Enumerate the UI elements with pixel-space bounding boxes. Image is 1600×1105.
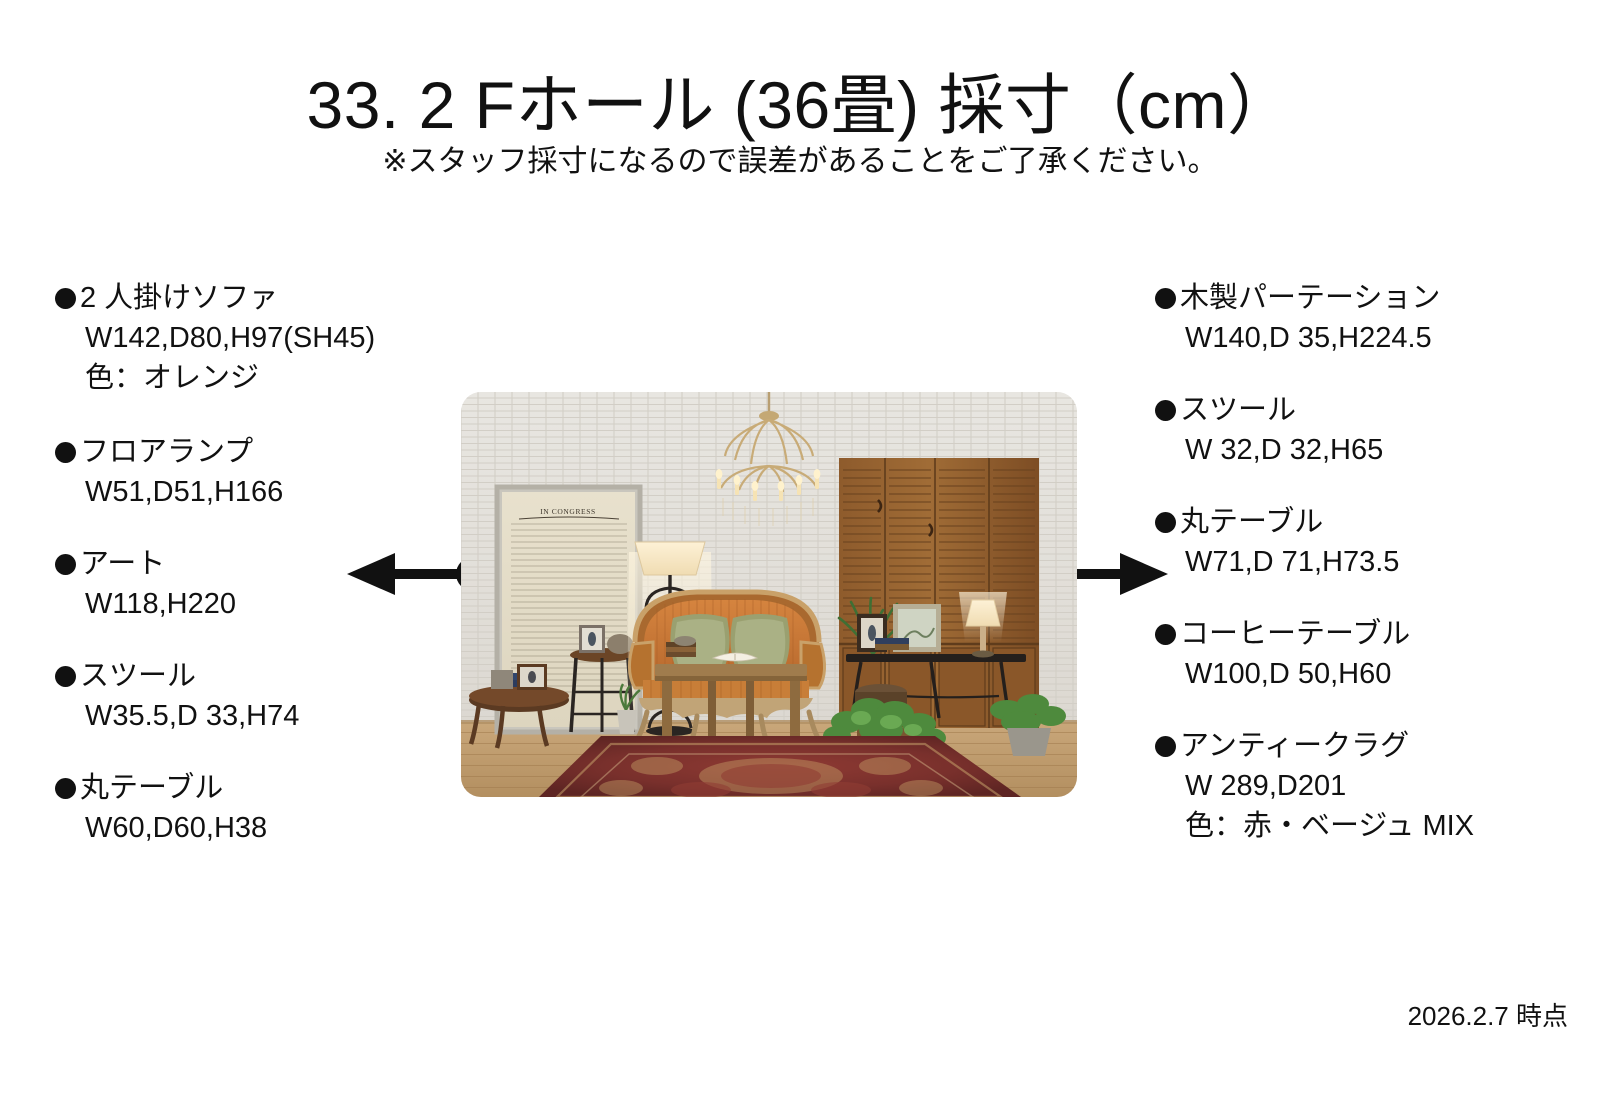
spec-item-stool: スツール W 32,D 32,H65 — [1155, 390, 1585, 470]
spec-name-row: スツール — [55, 656, 475, 696]
spec-label: スツール — [1180, 390, 1296, 430]
spec-label: アンティークラグ — [1180, 726, 1409, 766]
spec-dimension: W142,D80,H97(SH45) — [85, 318, 475, 358]
spec-dimension: W100,D 50,H60 — [1185, 654, 1585, 694]
spec-name-row: フロアランプ — [55, 432, 475, 472]
spec-name-row: 丸テーブル — [1155, 502, 1585, 542]
spec-dimension: W140,D 35,H224.5 — [1185, 318, 1585, 358]
spec-name-row: 木製パーテーション — [1155, 278, 1585, 318]
spec-name-row: コーヒーテーブル — [1155, 614, 1585, 654]
bullet-icon — [1155, 400, 1176, 421]
spec-label: 2 人掛けソファ — [80, 278, 278, 318]
bullet-icon — [55, 288, 76, 309]
spec-item-sofa: 2 人掛けソファ W142,D80,H97(SH45) 色：オレンジ — [55, 278, 475, 398]
spec-label: スツール — [80, 656, 196, 696]
spec-name-row: 2 人掛けソファ — [55, 278, 475, 318]
svg-text:IN CONGRESS: IN CONGRESS — [540, 507, 596, 516]
bullet-icon — [55, 442, 76, 463]
spec-item-floor-lamp: フロアランプ W51,D51,H166 — [55, 432, 475, 512]
spec-dimension: W35.5,D 33,H74 — [85, 696, 475, 736]
bullet-icon — [1155, 624, 1176, 645]
spec-label: アート — [80, 544, 165, 584]
spec-item-coffee-table: コーヒーテーブル W100,D 50,H60 — [1155, 614, 1585, 694]
bullet-icon — [55, 778, 76, 799]
spec-label: コーヒーテーブル — [1180, 614, 1410, 654]
spec-label: 丸テーブル — [80, 768, 223, 808]
spec-color: 色：赤・ベージュ MIX — [1185, 806, 1585, 846]
spec-item-antique-rug: アンティークラグ W 289,D201 色：赤・ベージュ MIX — [1155, 726, 1585, 846]
spec-dimension: W51,D51,H166 — [85, 472, 475, 512]
spec-dimension: W 32,D 32,H65 — [1185, 430, 1585, 470]
bullet-icon — [1155, 288, 1176, 309]
bullet-icon — [55, 554, 76, 575]
spec-item-wooden-partition: 木製パーテーション W140,D 35,H224.5 — [1155, 278, 1585, 358]
spec-color: 色：オレンジ — [85, 358, 475, 398]
room-photo-illustration: IN CONGRESS — [461, 392, 1077, 797]
spec-label: 木製パーテーション — [1180, 278, 1440, 318]
right-spec-column: 木製パーテーション W140,D 35,H224.5 スツール W 32,D 3… — [1155, 278, 1585, 846]
bullet-icon — [1155, 736, 1176, 757]
spec-dimension: W 289,D201 — [1185, 766, 1585, 806]
measurement-date: 2026.2.7 時点 — [1408, 996, 1568, 1033]
spec-name-row: アンティークラグ — [1155, 726, 1585, 766]
bullet-icon — [1155, 512, 1176, 533]
spec-label: フロアランプ — [80, 432, 253, 472]
spec-item-round-table: 丸テーブル W71,D 71,H73.5 — [1155, 502, 1585, 582]
spec-name-row: スツール — [1155, 390, 1585, 430]
room-photo: IN CONGRESS — [461, 392, 1077, 797]
spec-dimension: W71,D 71,H73.5 — [1185, 542, 1585, 582]
poster-root: 33. 2 Fホール (36畳) 採寸（cm） ※スタッフ採寸になるので誤差があ… — [0, 0, 1600, 1105]
page-subtitle: ※スタッフ採寸になるので誤差があることをご了承ください。 — [0, 136, 1600, 180]
bullet-icon — [55, 666, 76, 687]
spec-item-stool: スツール W35.5,D 33,H74 — [55, 656, 475, 736]
spec-name-row: 丸テーブル — [55, 768, 475, 808]
spec-item-round-table: 丸テーブル W60,D60,H38 — [55, 768, 475, 848]
spec-dimension: W60,D60,H38 — [85, 808, 475, 848]
page-title: 33. 2 Fホール (36畳) 採寸（cm） — [0, 52, 1600, 148]
spec-label: 丸テーブル — [1180, 502, 1323, 542]
